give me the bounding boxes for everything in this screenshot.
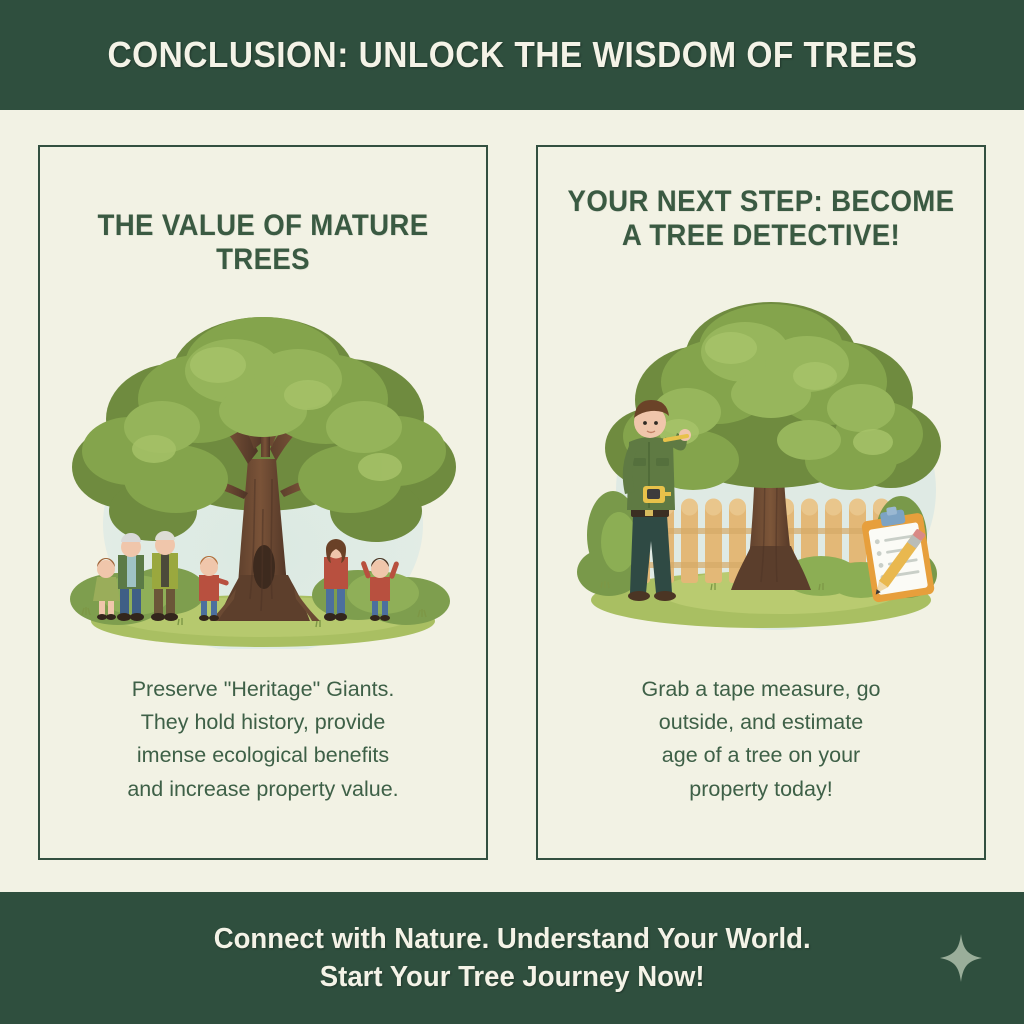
card-right-title: YOUR NEXT STEP: BECOME A TREE DETECTIVE!: [556, 185, 966, 252]
footer-band: Connect with Nature. Understand Your Wor…: [0, 892, 1024, 1024]
footer-line-1: Connect with Nature. Understand Your Wor…: [214, 920, 811, 958]
card-value-of-mature-trees: THE VALUE OF MATURE TREES: [38, 145, 488, 860]
card-left-title-line-1: THE VALUE OF MATURE TREES: [97, 209, 428, 276]
main-content: THE VALUE OF MATURE TREES: [0, 110, 1024, 892]
footer-line-2: Start Your Tree Journey Now!: [214, 958, 811, 996]
card-left-body-line-1: Preserve "Heritage" Giants.: [58, 673, 468, 706]
tree-family-svg: [58, 299, 468, 649]
card-right-body-line-1: Grab a tape measure, go: [556, 673, 966, 706]
card-left-body-line-2: They hold history, provide: [58, 706, 468, 739]
card-left-body: Preserve "Heritage" Giants. They hold hi…: [58, 673, 468, 858]
card-left-title: THE VALUE OF MATURE TREES: [58, 209, 468, 276]
man-measuring-backyard-tree-illustration: [538, 252, 984, 673]
tree-detective-svg: [561, 290, 961, 635]
sparkle-icon: [940, 934, 982, 982]
card-right-body: Grab a tape measure, go outside, and est…: [556, 673, 966, 858]
poster-canvas: CONCLUSION: UNLOCK THE WISDOM OF TREES T…: [0, 0, 1024, 1024]
mature-oak-tree-with-family-illustration: [40, 276, 486, 673]
card-right-body-line-3: age of a tree on your: [556, 739, 966, 772]
card-left-body-line-3: imense ecological benefits: [58, 739, 468, 772]
card-right-title-line-1: YOUR NEXT STEP:: [568, 185, 823, 218]
header-band: CONCLUSION: UNLOCK THE WISDOM OF TREES: [0, 0, 1024, 110]
card-right-body-line-2: outside, and estimate: [556, 706, 966, 739]
card-left-body-line-4: and increase property value.: [58, 773, 468, 806]
card-become-a-tree-detective: YOUR NEXT STEP: BECOME A TREE DETECTIVE!: [536, 145, 986, 860]
footer-call-to-action: Connect with Nature. Understand Your Wor…: [214, 920, 811, 997]
card-right-body-line-4: property today!: [556, 773, 966, 806]
page-title: CONCLUSION: UNLOCK THE WISDOM OF TREES: [107, 34, 917, 76]
